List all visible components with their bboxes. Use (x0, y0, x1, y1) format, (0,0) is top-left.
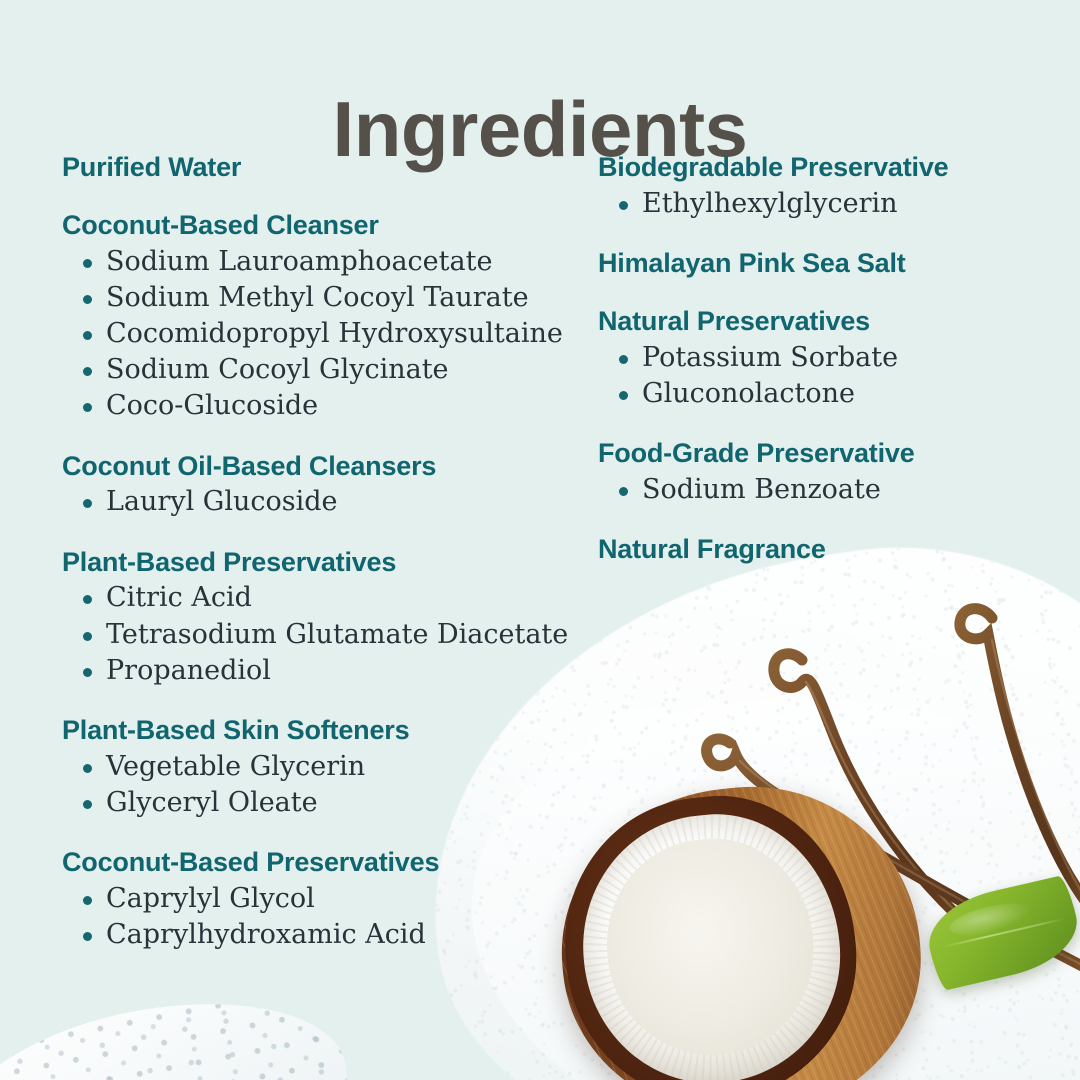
ingredient-group-heading: Plant-Based Preservatives (62, 547, 582, 579)
ingredient-group-heading: Coconut-Based Preservatives (62, 847, 582, 879)
ingredient-group-heading: Biodegradable Preservative (598, 152, 1048, 184)
ingredient-item-list: Lauryl Glucoside (62, 484, 582, 520)
ingredient-group: Coconut-Based PreservativesCaprylyl Glyc… (62, 847, 582, 953)
ingredients-content: Ingredients Purified WaterCoconut-Based … (0, 0, 1080, 1080)
ingredient-group-heading: Natural Fragrance (598, 534, 1048, 566)
ingredient-item: Sodium Methyl Cocoyl Taurate (80, 280, 582, 316)
ingredient-group: Food-Grade PreservativeSodium Benzoate (598, 438, 1048, 508)
ingredient-group: Coconut Oil-Based CleansersLauryl Glucos… (62, 451, 582, 521)
ingredient-item: Ethylhexylglycerin (616, 186, 1048, 222)
ingredient-item: Caprylyl Glycol (80, 881, 582, 917)
ingredient-group-heading: Coconut Oil-Based Cleansers (62, 451, 582, 483)
ingredient-group-heading: Himalayan Pink Sea Salt (598, 248, 1048, 280)
ingredient-group: Himalayan Pink Sea Salt (598, 248, 1048, 280)
ingredient-item-list: Vegetable GlycerinGlyceryl Oleate (62, 749, 582, 821)
ingredient-group: Natural Fragrance (598, 534, 1048, 566)
ingredient-group: Coconut-Based CleanserSodium Lauroamphoa… (62, 210, 582, 425)
ingredient-item: Lauryl Glucoside (80, 484, 582, 520)
ingredient-item: Citric Acid (80, 580, 582, 616)
ingredient-group-heading: Natural Preservatives (598, 306, 1048, 338)
ingredient-item: Caprylhydroxamic Acid (80, 917, 582, 953)
ingredient-item: Sodium Benzoate (616, 472, 1048, 508)
ingredient-group-heading: Plant-Based Skin Softeners (62, 715, 582, 747)
ingredient-item: Sodium Cocoyl Glycinate (80, 352, 582, 388)
ingredient-group: Biodegradable PreservativeEthylhexylglyc… (598, 152, 1048, 222)
ingredient-group-heading: Purified Water (62, 152, 582, 184)
ingredient-item: Sodium Lauroamphoacetate (80, 244, 582, 280)
ingredient-item-list: Sodium Benzoate (598, 472, 1048, 508)
ingredient-item: Propanediol (80, 653, 582, 689)
ingredient-group: Plant-Based Skin SoftenersVegetable Glyc… (62, 715, 582, 821)
ingredient-item-list: Ethylhexylglycerin (598, 186, 1048, 222)
ingredients-panel: Ingredients Purified WaterCoconut-Based … (0, 0, 1080, 1080)
ingredient-item: Coco-Glucoside (80, 388, 582, 424)
ingredient-item: Potassium Sorbate (616, 340, 1048, 376)
ingredient-item: Gluconolactone (616, 376, 1048, 412)
ingredient-group: Plant-Based PreservativesCitric AcidTetr… (62, 547, 582, 689)
ingredient-item: Cocomidopropyl Hydroxysultaine (80, 316, 582, 352)
ingredient-item: Vegetable Glycerin (80, 749, 582, 785)
ingredient-item-list: Caprylyl GlycolCaprylhydroxamic Acid (62, 881, 582, 953)
ingredient-item-list: Citric AcidTetrasodium Glutamate Diaceta… (62, 580, 582, 689)
ingredient-group: Purified Water (62, 152, 582, 184)
ingredient-group-heading: Food-Grade Preservative (598, 438, 1048, 470)
ingredient-item-list: Sodium LauroamphoacetateSodium Methyl Co… (62, 244, 582, 425)
ingredients-column-left: Purified WaterCoconut-Based CleanserSodi… (62, 152, 582, 953)
ingredient-item: Glyceryl Oleate (80, 785, 582, 821)
ingredient-group-heading: Coconut-Based Cleanser (62, 210, 582, 242)
ingredient-item: Tetrasodium Glutamate Diacetate (80, 617, 582, 653)
ingredient-item-list: Potassium SorbateGluconolactone (598, 340, 1048, 412)
ingredient-group: Natural PreservativesPotassium SorbateGl… (598, 306, 1048, 412)
ingredients-column-right: Biodegradable PreservativeEthylhexylglyc… (598, 152, 1048, 568)
